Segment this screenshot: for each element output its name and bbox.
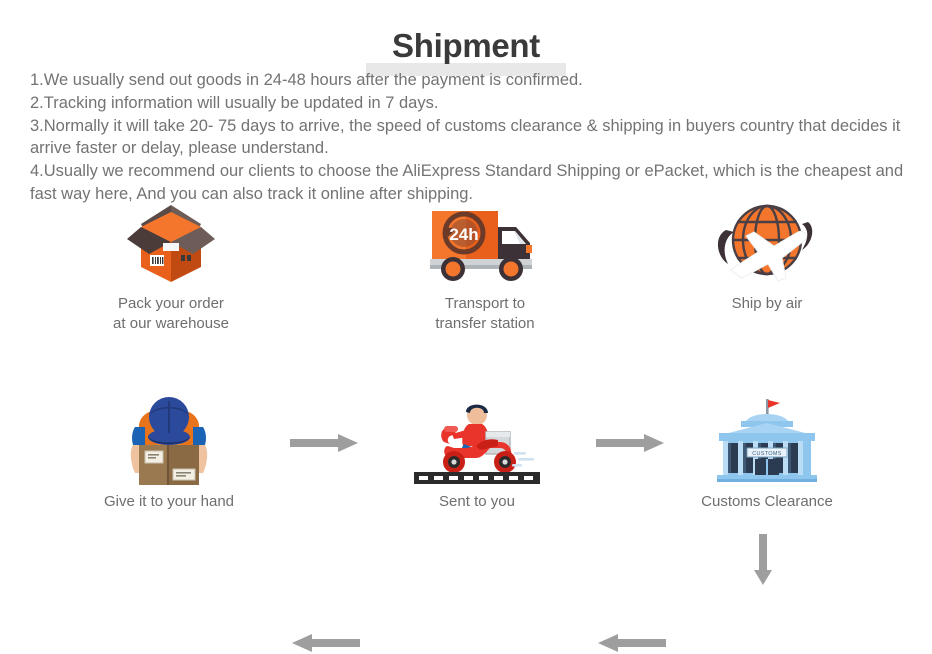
customs-sign-text: CUSTOMS [752,451,782,457]
arrow-left-icon [596,632,666,654]
flow-step-hand-delivery: Give it to your hand [64,394,274,512]
flow-step-air: Ship by air [662,196,872,314]
customs-building-icon: CUSTOMS [662,394,872,486]
arrow-down-icon [752,534,774,586]
arrow-left-icon [290,632,360,654]
flow-step-pack: Pack your order at our warehouse [66,196,276,333]
flow-step-label: Pack your order at our warehouse [66,294,276,333]
flow-step-truck: 24h Transport to transfer station [380,196,590,333]
globe-airplane-icon [662,196,872,288]
scooter-courier-icon [372,394,582,486]
shipping-policy-text: 1.We usually send out goods in 24-48 hou… [30,69,910,206]
open-box-icon [66,196,276,288]
page-title: Shipment [392,26,540,66]
flow-step-label: Sent to you [372,492,582,512]
truck-badge-text: 24h [449,225,478,244]
shipment-infographic: { "header": { "title": "Shipment" }, "po… [0,0,932,540]
policy-line-2: 2.Tracking information will usually be u… [30,92,910,115]
policy-line-1: 1.We usually send out goods in 24-48 hou… [30,69,910,92]
delivery-truck-icon: 24h [380,196,590,288]
flow-step-label: Give it to your hand [64,492,274,512]
flow-step-scooter: Sent to you [372,394,582,512]
courier-carrying-box-icon [64,394,274,486]
policy-line-3: 3.Normally it will take 20- 75 days to a… [30,115,910,161]
arrow-right-icon [290,432,360,454]
flow-step-customs: CUSTOMS Customs Clearance [662,394,872,512]
flow-step-label: Ship by air [662,294,872,314]
arrow-right-icon [596,432,666,454]
flow-step-label: Transport to transfer station [380,294,590,333]
page-title-area: Shipment [0,26,932,70]
flow-step-label: Customs Clearance [662,492,872,512]
